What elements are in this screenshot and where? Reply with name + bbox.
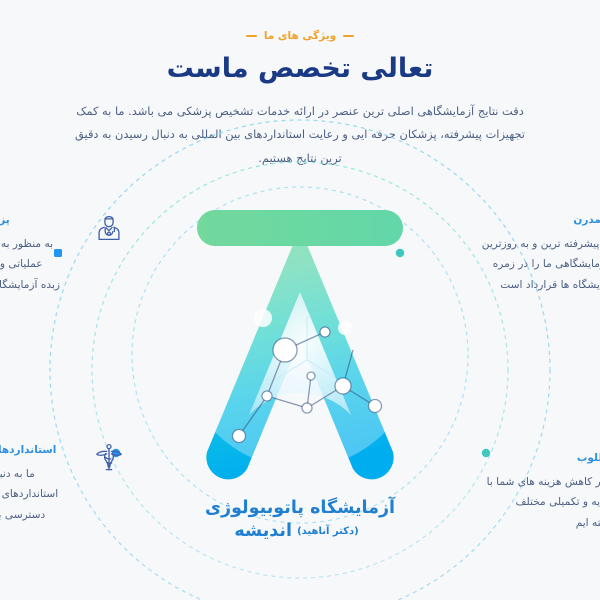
- brand-nameplate: آزمایشگاه پاتوبیولوژی (دکتر آناهید) اندی…: [170, 497, 430, 544]
- feature-description: به منظور به دست آوردن نتایج عملیاتی و دق…: [0, 234, 82, 296]
- page-title: تعالی تخصص ماست: [0, 52, 600, 86]
- page-root: ویژگی های ما تعالی تخصص ماست دقت نتایج آ…: [0, 0, 600, 600]
- feature-title: پزشکان حرفه ای: [0, 214, 82, 228]
- feature-title: تجهیزات مدرن: [488, 214, 600, 228]
- feature-desc-line: بهترین آزمایشگاه ها قرارداد است: [488, 275, 600, 296]
- eyebrow-label: ویژگی های ما: [264, 31, 336, 42]
- feature-desc-line: قرارداد بسته ایم: [488, 513, 600, 534]
- feature-item-price: قیمت مطلوب ما به منظور کاهش هزینه های شم…: [488, 452, 600, 534]
- feature-desc-line: تجهیزات آزمایشگاهی ما را در زمره: [488, 254, 600, 275]
- section-eyebrow: ویژگی های ما: [246, 31, 354, 42]
- feature-body: پزشکان حرفه ای به منظور به دست آوردن نتا…: [0, 214, 82, 296]
- feature-desc-line: به منظور به دست آوردن نتایج: [0, 234, 82, 255]
- brand-name-primary: آزمایشگاه پاتوبیولوژی: [170, 497, 430, 521]
- feature-desc-line: استفاده از پیشرفته ترین و به روزترین: [488, 234, 600, 255]
- brand-doctor-name: (دکتر آناهید): [297, 526, 359, 537]
- feature-description: ما به منظور کاهش هزینه های شما با بیمه ه…: [488, 472, 600, 534]
- feature-body: تجهیزات مدرن استفاده از پیشرفته ترین و ب…: [488, 214, 600, 296]
- feature-desc-line: هستیم: [0, 526, 82, 547]
- eyebrow-dash-right-icon: [343, 35, 354, 37]
- eyebrow-dash-left-icon: [246, 35, 257, 37]
- feature-description: ما به دنبال رعایت بالاترین استانداردهای …: [0, 464, 82, 547]
- feature-title: قیمت مطلوب: [488, 452, 600, 466]
- feature-body: استانداردهای آزمایشگاهی ما به دنبال رعای…: [0, 444, 82, 546]
- feature-desc-line: استانداردهای آزمایشگاهی برای: [0, 484, 82, 505]
- section-header: ویژگی های ما تعالی تخصص ماست دقت نتایج آ…: [0, 0, 600, 170]
- laboratory-logo-icon: [175, 200, 425, 480]
- feature-desc-line: ما به دنبال رعایت بالاترین: [0, 464, 82, 485]
- logo-group: آزمایشگاه پاتوبیولوژی (دکتر آناهید) اندی…: [135, 200, 465, 540]
- brand-name-secondary-row: (دکتر آناهید) اندیشه: [170, 520, 430, 544]
- caduceus-icon: [91, 440, 127, 476]
- feature-desc-line: ما به منظور کاهش هزینه های شما با: [488, 472, 600, 493]
- doctor-icon: [91, 210, 127, 246]
- feature-body: قیمت مطلوب ما به منظور کاهش هزینه های شم…: [488, 452, 600, 534]
- feature-desc-line: عملیاتی و دقیق، از پزشکان: [0, 254, 82, 275]
- logo-crossbar: [197, 210, 403, 246]
- brand-name-secondary: اندیشه: [234, 520, 292, 544]
- feature-title: استانداردهای آزمایشگاهی: [0, 444, 82, 458]
- feature-item-equipment: تجهیزات مدرن استفاده از پیشرفته ترین و ب…: [488, 214, 600, 296]
- feature-desc-line: زبده آزمایشگاهی بهره می بریم: [0, 275, 82, 296]
- feature-item-doctors: پزشکان حرفه ای به منظور به دست آوردن نتا…: [0, 214, 127, 296]
- feature-description: استفاده از پیشرفته ترین و به روزترین تجه…: [488, 234, 600, 296]
- feature-desc-line: بیمه های پایه و تکمیلی مختلف: [488, 492, 600, 513]
- feature-desc-line: دسترسی به دقیق ترین نتایج: [0, 505, 82, 526]
- feature-item-standards: استانداردهای آزمایشگاهی ما به دنبال رعای…: [0, 444, 127, 546]
